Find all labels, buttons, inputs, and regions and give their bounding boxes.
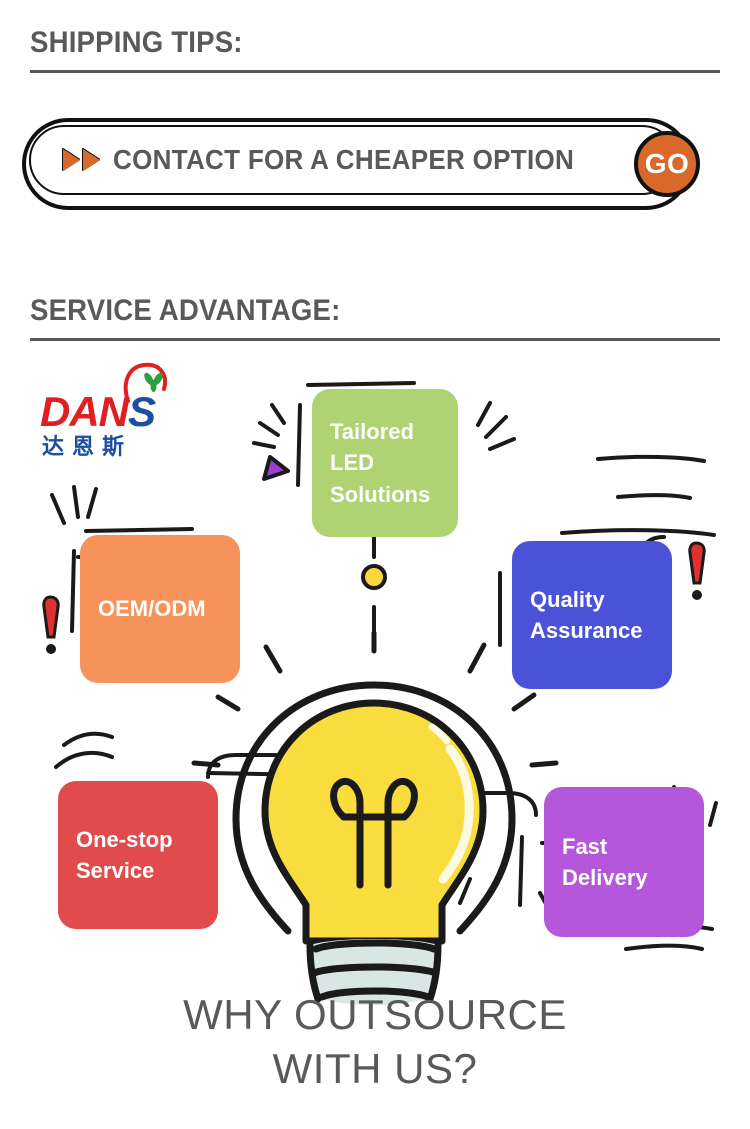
service-box-label-line1: One-stop (76, 824, 200, 855)
logo-latin-primary: DAN (40, 388, 128, 435)
connector-dot-tailored (363, 566, 385, 588)
service-box-tailored-led-solutions[interactable]: Tailored LED Solutions (312, 389, 458, 537)
contact-bar-content: CONTACT FOR A CHEAPER OPTION (31, 127, 675, 193)
contact-bar-label: CONTACT FOR A CHEAPER OPTION (113, 144, 574, 176)
lightbulb-glass (265, 703, 483, 941)
tagline-line-2: WITH US? (0, 1042, 750, 1096)
contact-cheaper-option-bar[interactable]: CONTACT FOR A CHEAPER OPTION GO (22, 118, 692, 210)
sketch-marks-left-lower (56, 734, 112, 767)
service-box-label-line1: Tailored (330, 416, 440, 447)
service-box-quality-assurance[interactable]: Quality Assurance (512, 541, 672, 689)
exclamation-icon-left (44, 597, 58, 654)
sketch-marks-top-left (254, 405, 284, 447)
heading-divider-rule (30, 70, 720, 73)
service-box-label-line1: Quality (530, 584, 654, 615)
shipping-tips-heading-text: SHIPPING TIPS: (30, 28, 665, 58)
heading-divider-rule (30, 338, 720, 341)
sketch-marks-right-upper (562, 457, 714, 535)
sketch-marks-top-right (478, 403, 514, 449)
service-advantage-section-heading: SERVICE ADVANTAGE: (30, 296, 720, 341)
infographic-tagline: WHY OUTSOURCE WITH US? (0, 988, 750, 1096)
logo-chinese-text: 达恩斯 (42, 429, 132, 461)
logo-latin-secondary: S (128, 388, 155, 435)
shipping-tips-section-heading: SHIPPING TIPS: (30, 28, 720, 73)
service-box-label-line1: OEM/ODM (98, 593, 222, 624)
double-right-arrow-icon-second (83, 149, 100, 171)
lightbulb-icon (236, 685, 512, 1005)
purple-triangle-icon (264, 457, 288, 479)
exclamation-icon-right (690, 543, 704, 600)
service-box-label-line2: Assurance (530, 615, 654, 646)
service-box-label-line1: Fast (562, 831, 686, 862)
service-advantage-heading-text: SERVICE ADVANTAGE: (30, 296, 665, 326)
tagline-line-1: WHY OUTSOURCE (0, 988, 750, 1042)
logo-latin-text: DANS (40, 391, 155, 433)
sketch-marks-left-upper (52, 487, 96, 523)
service-box-label-line2: Delivery (562, 862, 686, 893)
service-box-label-line3: Solutions (330, 479, 440, 510)
service-box-fast-delivery[interactable]: Fast Delivery (544, 787, 704, 937)
service-box-oem-odm[interactable]: OEM/ODM (80, 535, 240, 683)
service-box-one-stop-service[interactable]: One-stop Service (58, 781, 218, 929)
double-right-arrow-icon-first (63, 149, 80, 171)
service-box-label-line2: Service (76, 855, 200, 886)
contact-bar-inner-border: CONTACT FOR A CHEAPER OPTION (29, 125, 677, 195)
dans-logo: DANS 达恩斯 (40, 363, 190, 455)
service-box-label-line2: LED (330, 447, 440, 478)
go-button[interactable]: GO (634, 131, 700, 197)
